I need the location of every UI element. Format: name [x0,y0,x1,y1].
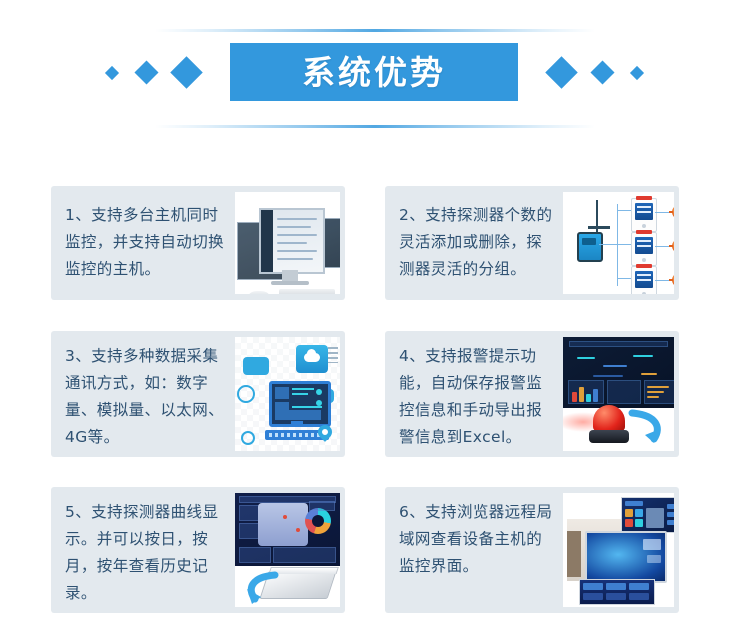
large-diamond-icon [170,56,203,89]
advantage-card-3-text: 3、支持多种数据采集通讯方式，如：数字量、模拟量、以太网、4G等。 [51,331,235,457]
cloud-data-collection-image [235,337,340,451]
small-diamond-icon [105,66,119,80]
curved-arrow-icon [243,571,281,605]
system-advantages-page: 系统优势 1、支持多台主机同时监控，并支持自动切换监控的主机。 [0,0,750,634]
medium-diamond-icon [590,60,614,84]
advantage-card-2-text: 2、支持探测器个数的灵活添加或删除，探测器灵活的分组。 [385,186,563,300]
gradient-divider-bottom-icon [155,125,595,128]
remote-browser-screens-image [563,493,674,607]
large-diamond-icon [545,56,578,89]
page-title-box: 系统优势 [230,43,518,101]
advantage-card-1[interactable]: 1、支持多台主机同时监控，并支持自动切换监控的主机。 [51,186,345,300]
advantage-card-1-text: 1、支持多台主机同时监控，并支持自动切换监控的主机。 [51,186,235,300]
page-title: 系统优势 [302,56,446,89]
advantage-card-2[interactable]: 2、支持探测器个数的灵活添加或删除，探测器灵活的分组。 [385,186,679,300]
multi-monitor-workstation-image [235,192,340,294]
page-header: 系统优势 [0,0,750,150]
gradient-divider-top-icon [155,29,595,32]
detector-network-diagram-image [563,192,674,294]
advantage-card-3[interactable]: 3、支持多种数据采集通讯方式，如：数字量、模拟量、以太网、4G等。 [51,331,345,457]
advantage-card-6[interactable]: 6、支持浏览器远程局域网查看设备主机的监控界面。 [385,487,679,613]
advantage-card-5[interactable]: 5、支持探测器曲线显示。并可以按日，按月，按年查看历史记录。 [51,487,345,613]
curved-arrow-icon [626,409,666,447]
advantage-card-5-text: 5、支持探测器曲线显示。并可以按日，按月，按年查看历史记录。 [51,487,235,613]
medium-diamond-icon [134,60,158,84]
advantage-card-4-text: 4、支持报警提示功能，自动保存报警监控信息和手动导出报警信息到Excel。 [385,331,563,457]
map-dashboard-harddisk-image [235,493,340,607]
small-diamond-icon [630,66,644,80]
advantage-card-4[interactable]: 4、支持报警提示功能，自动保存报警监控信息和手动导出报警信息到Excel。 [385,331,679,457]
alarm-dashboard-siren-image [563,337,674,451]
advantage-card-6-text: 6、支持浏览器远程局域网查看设备主机的监控界面。 [385,487,563,613]
